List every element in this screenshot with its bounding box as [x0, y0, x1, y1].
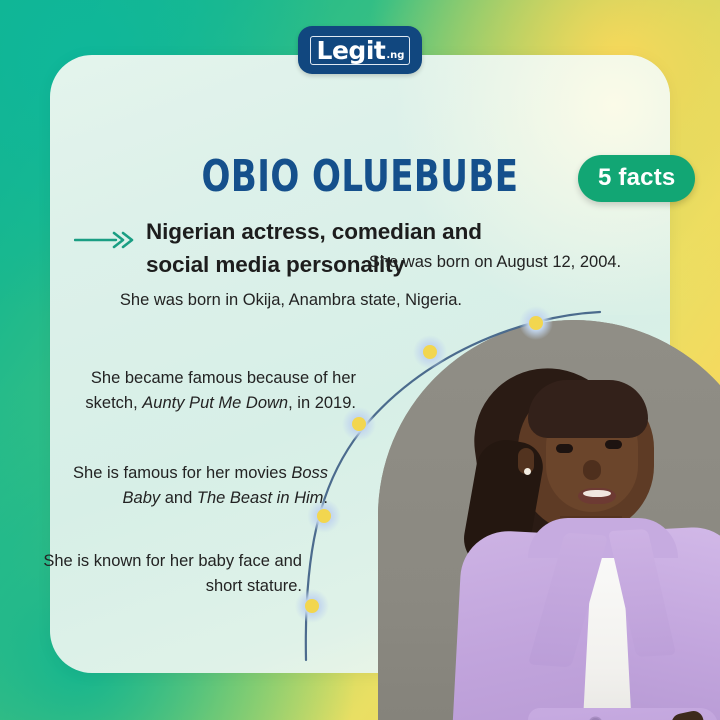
infographic-poster: OBIO OLUEBUBE Nigerian actress, comedian…: [0, 0, 720, 720]
fact-item: She was born in Okija, Anambra state, Ni…: [92, 288, 462, 313]
legit-logo-word: Legit: [317, 38, 386, 63]
fact-text-after: , in 2019.: [288, 394, 356, 412]
fact-item: She was born on August 12, 2004.: [330, 250, 660, 275]
fact-text-before: She is famous for her movies: [73, 464, 291, 482]
fact-text-italic-2: The Beast in Him: [197, 489, 324, 507]
photo-earring: [524, 468, 531, 475]
photo-hairline: [528, 380, 648, 438]
fact-text: She was born in Okija, Anambra state, Ni…: [120, 291, 462, 309]
legit-logo-tld: .ng: [386, 51, 404, 61]
fact-text-italic: Aunty Put Me Down: [142, 394, 288, 412]
fact-item: She became famous because of her sketch,…: [84, 366, 356, 415]
fact-item: She is known for her baby face and short…: [36, 549, 302, 598]
fact-item: She is famous for her movies Boss Baby a…: [62, 461, 328, 510]
legit-logo-inner: Legit .ng: [310, 36, 411, 65]
double-chevron-arrow-right-icon: [74, 231, 136, 254]
subtitle-line-1: Nigerian actress, comedian and: [146, 219, 482, 244]
photo-teeth: [583, 490, 611, 497]
fact-text: She is known for her baby face and short…: [43, 552, 302, 595]
legit-logo[interactable]: Legit .ng: [298, 26, 422, 74]
fact-text-middle: and: [160, 489, 197, 507]
fact-text: She was born on August 12, 2004.: [369, 253, 621, 271]
portrait-photo-circle: [378, 320, 720, 720]
fact-text-after: .: [323, 489, 328, 507]
facts-count-badge: 5 facts: [578, 155, 695, 202]
photo-eye-right: [605, 440, 622, 449]
portrait-photo: [378, 320, 720, 720]
photo-eye-left: [556, 444, 573, 453]
photo-nose: [583, 460, 601, 480]
page-title: OBIO OLUEBUBE: [93, 151, 626, 202]
